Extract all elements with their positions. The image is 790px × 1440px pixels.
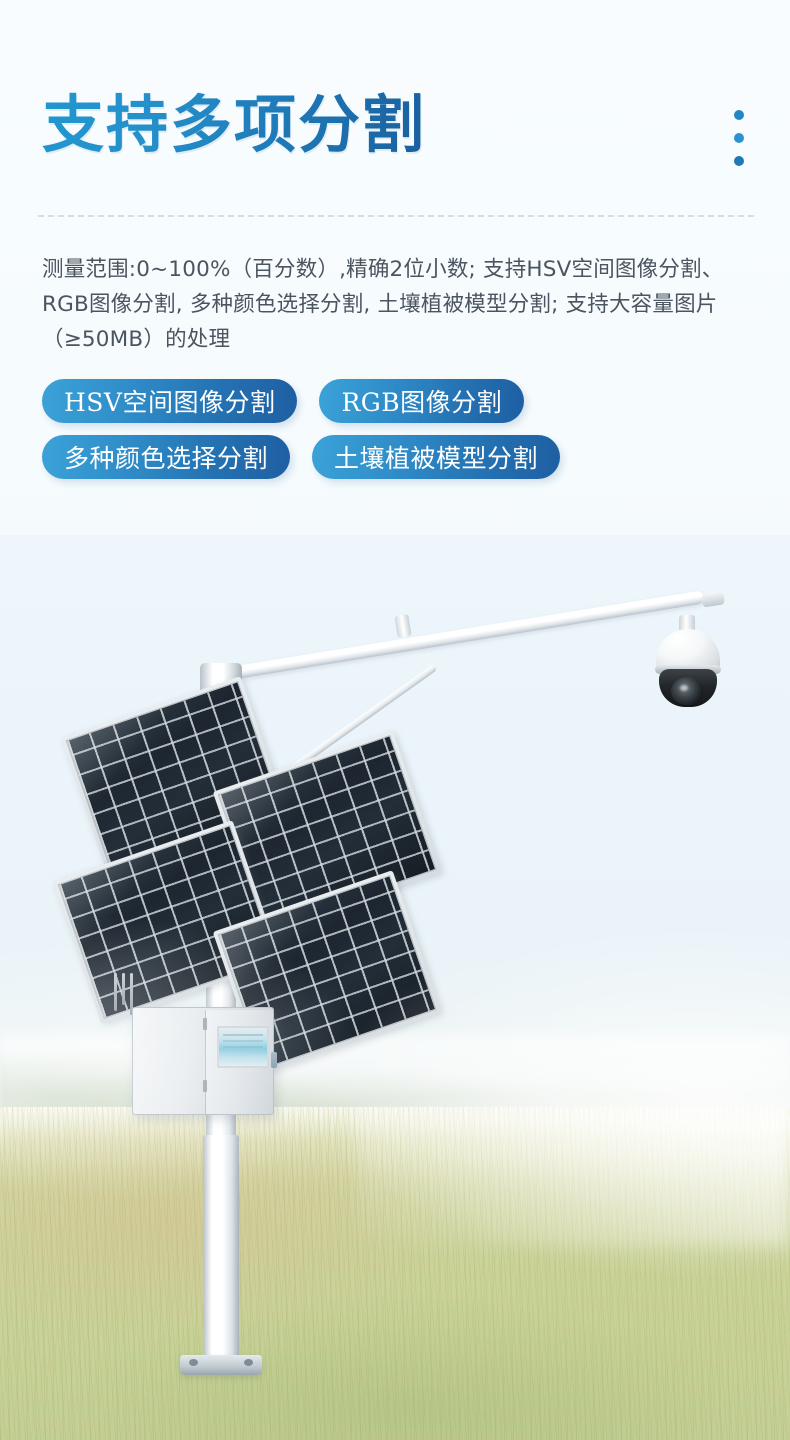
mast-pole-lower: [203, 1135, 239, 1375]
kebab-menu-icon[interactable]: [726, 110, 752, 166]
enclosure-hinge: [203, 1018, 207, 1030]
tag-rgb-segmentation[interactable]: RGB图像分割: [319, 379, 524, 423]
tag-hsv-segmentation[interactable]: HSV空间图像分割: [42, 379, 297, 423]
tag-row-2: 多种颜色选择分割 土壤植被模型分割: [42, 435, 790, 479]
control-enclosure-box: [132, 1007, 274, 1115]
base-mounting-plate: [180, 1355, 262, 1375]
kebab-dot-1: [734, 110, 744, 120]
cable-1: [114, 973, 117, 1011]
boom-arm: [204, 590, 705, 684]
monitoring-station: [0, 535, 790, 1440]
page-header: 支持多项分割: [0, 0, 790, 215]
kebab-dot-2: [734, 133, 744, 143]
camera-lens: [671, 677, 703, 705]
tag-row-1: HSV空间图像分割 RGB图像分割: [42, 379, 790, 423]
product-photo: [0, 535, 790, 1440]
strut-collar: [394, 614, 411, 638]
lcd-display-window: [217, 1026, 269, 1068]
section-divider: [38, 215, 754, 217]
boom-arm-end-cap: [701, 591, 725, 607]
ptz-dome-camera: [655, 615, 721, 707]
kebab-dot-3: [734, 156, 744, 166]
cable-2: [122, 973, 125, 1005]
feature-description: 测量范围:0~100%（百分数）,精确2位小数; 支持HSV空间图像分割、RGB…: [42, 253, 754, 357]
page-title: 支持多项分割: [42, 92, 426, 159]
tag-soil-vegetation-model-segmentation[interactable]: 土壤植被模型分割: [312, 435, 560, 479]
enclosure-latch: [271, 1052, 277, 1068]
feature-tag-list: HSV空间图像分割 RGB图像分割 多种颜色选择分割 土壤植被模型分割: [42, 379, 790, 479]
product-feature-page: 支持多项分割 测量范围:0~100%（百分数）,精确2位小数; 支持HSV空间图…: [0, 0, 790, 1440]
tag-multicolor-selection-segmentation[interactable]: 多种颜色选择分割: [42, 435, 290, 479]
